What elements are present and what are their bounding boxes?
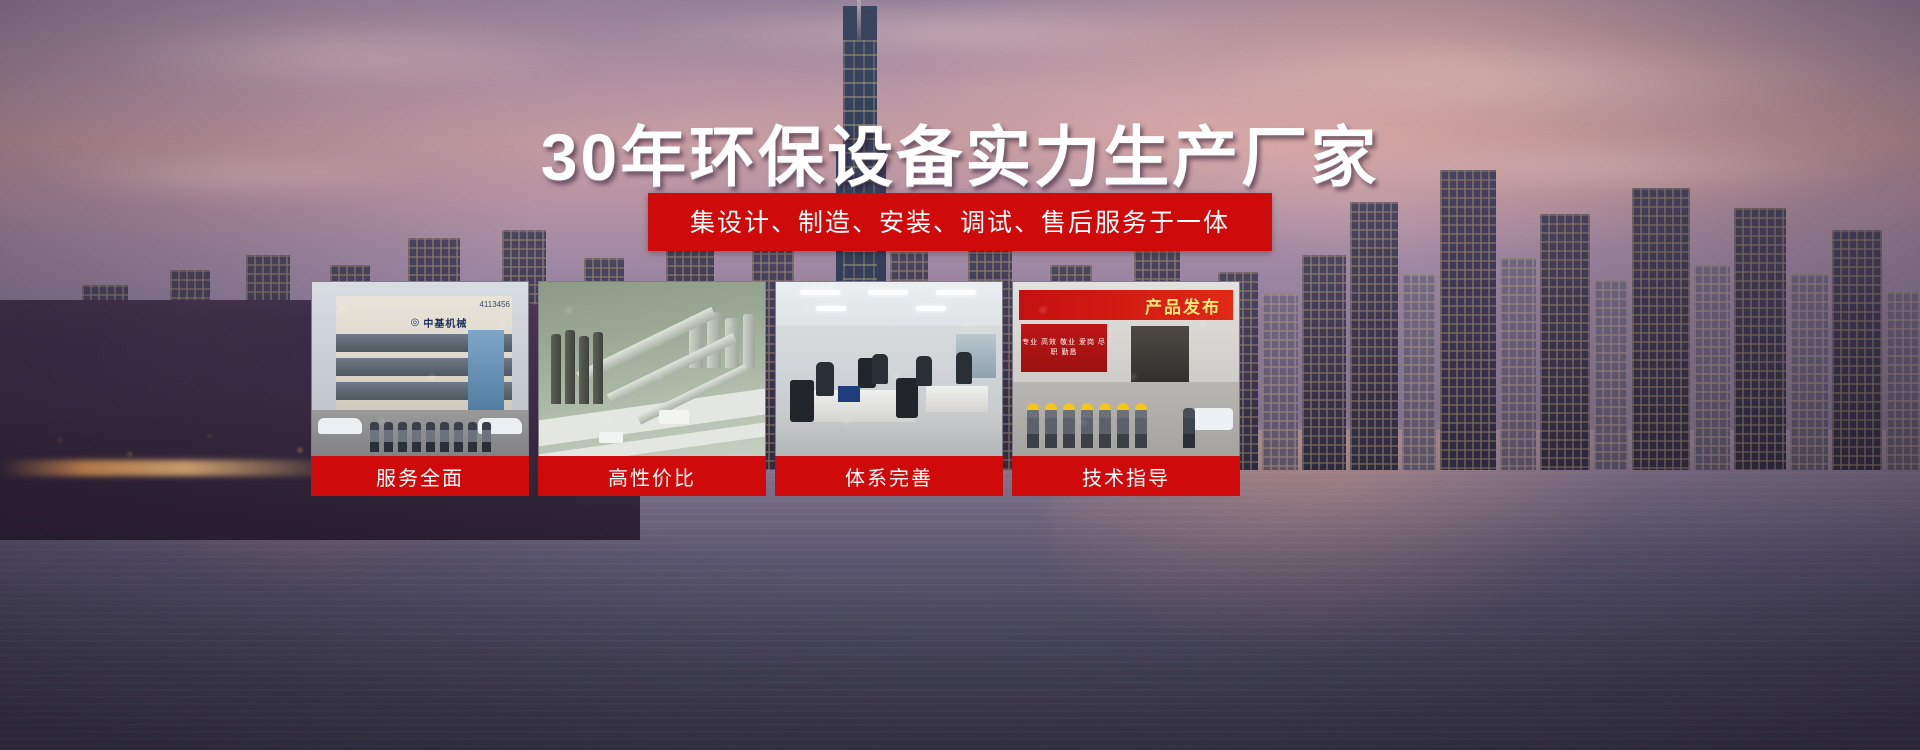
subtitle-bar-wrapper: 集设计、制造、安装、调试、售后服务于一体 — [0, 193, 1920, 251]
feature-card[interactable]: 产品发布 专业 高效 敬业 爱岗 尽职 勤恳 技术指导 — [1012, 281, 1240, 496]
building-sign-logo: ◎ — [411, 317, 421, 328]
card-caption: 高性价比 — [538, 456, 766, 496]
card-caption: 技术指导 — [1012, 456, 1240, 496]
card-caption: 服务全面 — [311, 456, 529, 496]
building-sign-number: 4113456 — [479, 300, 510, 309]
card-image-workshop-training: 产品发布 专业 高效 敬业 爱岗 尽职 勤恳 — [1012, 281, 1240, 456]
subtitle-banner: 集设计、制造、安装、调试、售后服务于一体 — [648, 193, 1272, 251]
feature-card-row: ◎ 中基机械 4113456 — [311, 281, 1561, 496]
building-sign-text: 中基机械 — [423, 315, 467, 330]
feature-card[interactable]: 体系完善 — [775, 281, 1003, 496]
page-title: 30年环保设备实力生产厂家 — [0, 104, 1920, 200]
hero-banner: 30年环保设备实力生产厂家 集设计、制造、安装、调试、售后服务于一体 ◎ 中基机… — [0, 0, 1920, 750]
card-image-plant-aerial — [538, 281, 766, 456]
card-caption: 体系完善 — [775, 456, 1003, 496]
workshop-banner-text: 产品发布 — [1019, 290, 1233, 320]
bridge-lights — [0, 460, 340, 476]
card-image-company-building: ◎ 中基机械 4113456 — [311, 281, 529, 456]
feature-card[interactable]: ◎ 中基机械 4113456 — [311, 281, 529, 496]
card-image-office-team — [775, 281, 1003, 456]
workshop-side-slogan: 专业 高效 敬业 爱岗 尽职 勤恳 — [1021, 324, 1107, 372]
feature-card[interactable]: 高性价比 — [538, 281, 766, 496]
tower-spire — [857, 0, 861, 40]
